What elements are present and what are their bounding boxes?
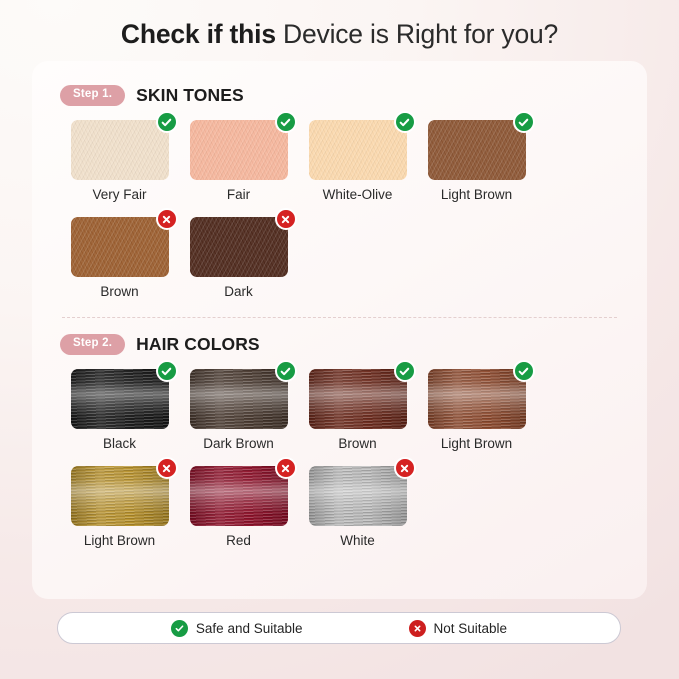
check-icon xyxy=(156,360,178,382)
swatch-label: Red xyxy=(226,533,251,548)
page-title-regular: Device is Right for you? xyxy=(283,19,558,49)
legend-unsafe-label: Not Suitable xyxy=(434,621,508,636)
swatch-wrap xyxy=(190,466,288,526)
swatch-texture xyxy=(190,217,288,277)
swatch-wrap xyxy=(190,217,288,277)
row-spacer xyxy=(60,202,619,217)
cross-icon xyxy=(394,457,416,479)
section-1: Step 1.SKIN TONESVery FairFairWhite-Oliv… xyxy=(60,85,619,299)
swatch-color xyxy=(428,369,526,429)
swatch-wrap xyxy=(309,120,407,180)
swatch-row: Light BrownRedWhite xyxy=(60,466,619,548)
sections-container: Step 1.SKIN TONESVery FairFairWhite-Oliv… xyxy=(60,85,619,548)
section-2: Step 2.HAIR COLORSBlackDark BrownBrownLi… xyxy=(60,334,619,548)
swatch-wrap xyxy=(428,120,526,180)
swatch-label: Brown xyxy=(338,436,376,451)
swatch-sheen xyxy=(71,466,169,526)
swatch-color xyxy=(309,466,407,526)
check-icon xyxy=(275,111,297,133)
swatch-wrap xyxy=(309,369,407,429)
swatch-wrap xyxy=(71,466,169,526)
swatch-color xyxy=(190,369,288,429)
cross-icon xyxy=(275,208,297,230)
swatch-item[interactable]: Brown xyxy=(60,217,179,299)
swatch-row: BrownDark xyxy=(60,217,619,299)
legend-item-unsafe: Not Suitable xyxy=(409,620,508,637)
legend-safe-label: Safe and Suitable xyxy=(196,621,303,636)
swatch-texture xyxy=(71,120,169,180)
swatch-item[interactable]: Dark xyxy=(179,217,298,299)
check-icon xyxy=(275,360,297,382)
swatch-item[interactable]: Red xyxy=(179,466,298,548)
check-icon xyxy=(394,111,416,133)
step-badge: Step 1. xyxy=(60,85,125,106)
section-header: Step 1.SKIN TONES xyxy=(60,85,619,106)
swatch-color xyxy=(71,369,169,429)
swatch-sheen xyxy=(428,369,526,429)
swatch-color xyxy=(309,120,407,180)
device-suitability-infographic: Check if this Device is Right for you? S… xyxy=(0,0,679,679)
swatch-item[interactable]: Light Brown xyxy=(60,466,179,548)
swatch-wrap xyxy=(309,466,407,526)
swatch-item[interactable]: Brown xyxy=(298,369,417,451)
swatch-label: White xyxy=(340,533,375,548)
section-header: Step 2.HAIR COLORS xyxy=(60,334,619,355)
swatch-wrap xyxy=(190,120,288,180)
swatch-item[interactable]: Light Brown xyxy=(417,120,536,202)
swatch-color xyxy=(71,466,169,526)
swatch-label: Light Brown xyxy=(84,533,155,548)
swatch-item[interactable]: White xyxy=(298,466,417,548)
swatch-item[interactable]: White-Olive xyxy=(298,120,417,202)
cross-icon xyxy=(156,208,178,230)
check-icon xyxy=(156,111,178,133)
swatch-item[interactable]: Fair xyxy=(179,120,298,202)
swatch-label: Light Brown xyxy=(441,436,512,451)
cross-icon xyxy=(409,620,426,637)
swatch-sheen xyxy=(71,369,169,429)
swatch-label: Very Fair xyxy=(92,187,146,202)
swatch-wrap xyxy=(190,369,288,429)
swatch-color xyxy=(71,120,169,180)
swatch-label: Dark Brown xyxy=(203,436,274,451)
check-icon xyxy=(513,111,535,133)
swatch-label: Brown xyxy=(100,284,138,299)
swatch-wrap xyxy=(71,369,169,429)
row-spacer xyxy=(60,451,619,466)
swatch-color xyxy=(71,217,169,277)
swatch-row: BlackDark BrownBrownLight Brown xyxy=(60,369,619,451)
swatch-label: White-Olive xyxy=(323,187,393,202)
swatch-sheen xyxy=(190,369,288,429)
swatch-texture xyxy=(190,120,288,180)
check-icon xyxy=(171,620,188,637)
swatch-sheen xyxy=(309,369,407,429)
swatch-wrap xyxy=(71,217,169,277)
content-card: Step 1.SKIN TONESVery FairFairWhite-Oliv… xyxy=(32,61,647,599)
legend-bar: Safe and Suitable Not Suitable xyxy=(57,612,621,644)
swatch-color xyxy=(190,217,288,277)
swatch-color xyxy=(190,466,288,526)
swatch-sheen xyxy=(190,466,288,526)
step-badge: Step 2. xyxy=(60,334,125,355)
swatch-row: Very FairFairWhite-OliveLight Brown xyxy=(60,120,619,202)
page-title-bold: Check if this xyxy=(121,19,276,49)
section-title: SKIN TONES xyxy=(136,85,244,106)
swatch-item[interactable]: Light Brown xyxy=(417,369,536,451)
section-divider xyxy=(62,317,617,318)
check-icon xyxy=(394,360,416,382)
swatch-texture xyxy=(71,217,169,277)
check-icon xyxy=(513,360,535,382)
cross-icon xyxy=(156,457,178,479)
swatch-color xyxy=(428,120,526,180)
swatch-label: Fair xyxy=(227,187,250,202)
swatch-label: Light Brown xyxy=(441,187,512,202)
swatch-item[interactable]: Dark Brown xyxy=(179,369,298,451)
swatch-wrap xyxy=(428,369,526,429)
swatch-color xyxy=(190,120,288,180)
section-title: HAIR COLORS xyxy=(136,334,260,355)
swatch-label: Black xyxy=(103,436,136,451)
swatch-sheen xyxy=(309,466,407,526)
page-title: Check if this Device is Right for you? xyxy=(0,0,679,50)
cross-icon xyxy=(275,457,297,479)
swatch-wrap xyxy=(71,120,169,180)
swatch-texture xyxy=(428,120,526,180)
swatch-label: Dark xyxy=(224,284,253,299)
swatch-color xyxy=(309,369,407,429)
swatch-item[interactable]: Black xyxy=(60,369,179,451)
swatch-texture xyxy=(309,120,407,180)
swatch-item[interactable]: Very Fair xyxy=(60,120,179,202)
legend-item-safe: Safe and Suitable xyxy=(171,620,303,637)
